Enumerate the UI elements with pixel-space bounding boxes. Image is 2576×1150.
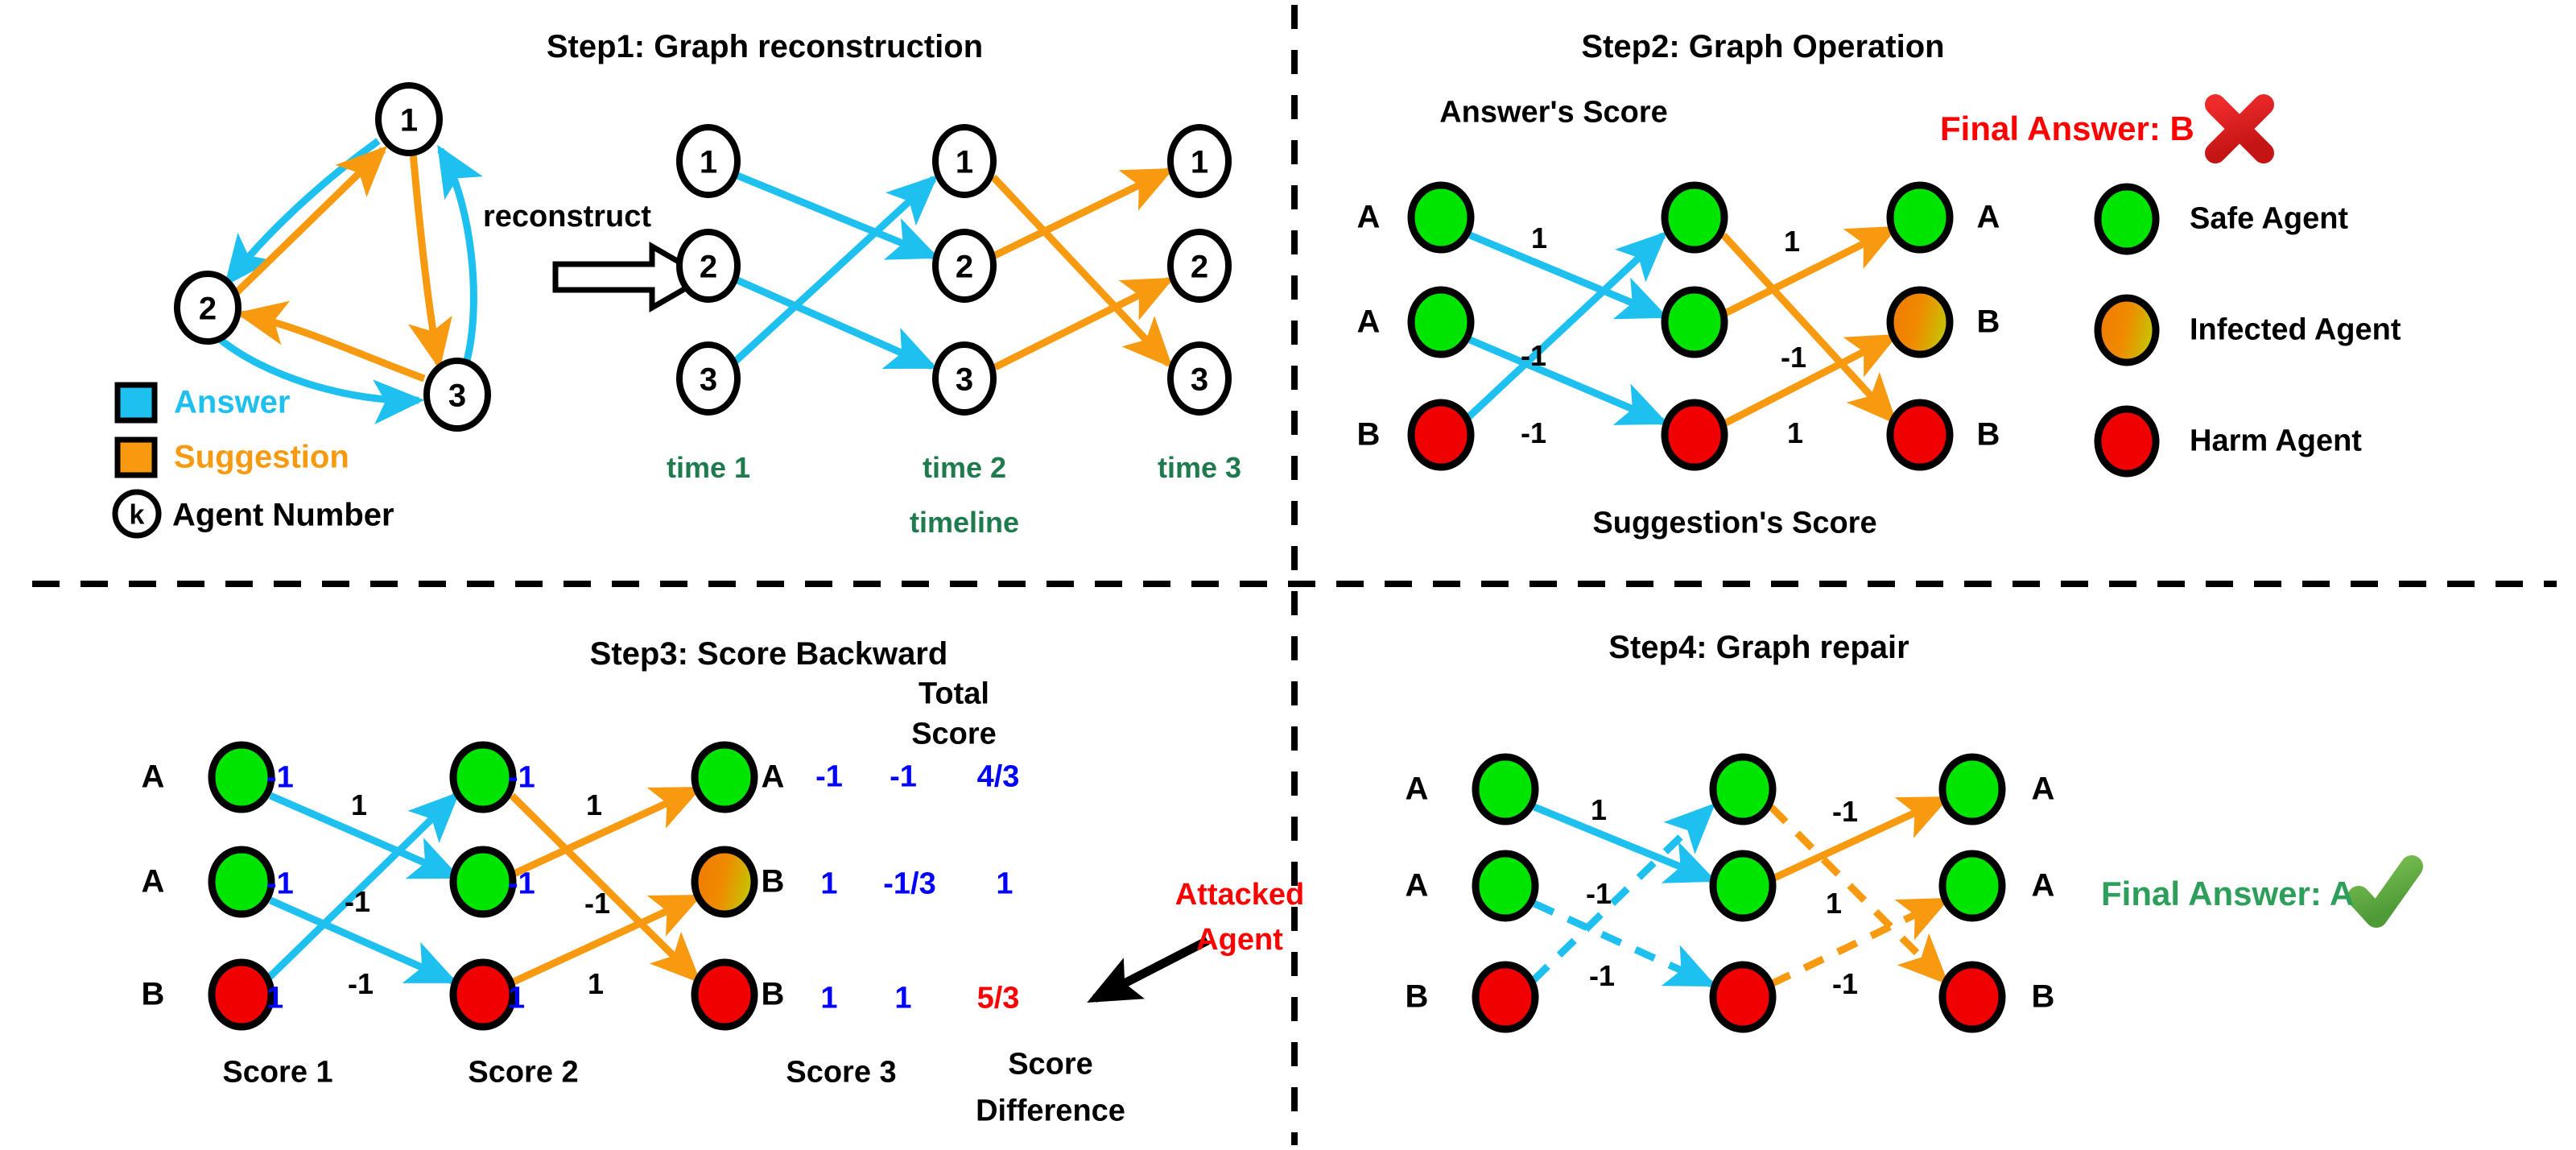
step3-title: Step3: Score Backward: [590, 636, 948, 672]
legend-safe-label: Safe Agent: [2190, 202, 2348, 237]
unrolled-node-t3-3: 3: [1191, 362, 1208, 399]
s3-node-c1-r2: [212, 850, 271, 914]
suggestion-edge-2-1: [233, 150, 383, 296]
s4-answer-edge-3-1: [1533, 807, 1711, 981]
s2-suggestion-weight-0: 1: [1784, 225, 1800, 259]
table-row-2-score3: 5/3: [977, 982, 1020, 1016]
unrolled-node-t3-1: 1: [1191, 145, 1208, 181]
s4-node-c3-r3: [1942, 965, 2002, 1029]
unrolled-node-t2-3: 3: [956, 362, 973, 399]
table-row-0-score2: -1: [890, 760, 917, 795]
step1-source-graph: [177, 85, 488, 428]
s2-node-c1-r3: [1411, 403, 1471, 467]
step4-graph: [1476, 757, 2002, 1029]
answer-edge-t1n1-t2n2: [737, 176, 934, 256]
s4-node-c1-r1: [1476, 757, 1535, 821]
s3-node-c3-r1: [695, 745, 754, 809]
unrolled-node-t3-2: 2: [1191, 250, 1208, 286]
table-row-1-score1: 1: [820, 867, 837, 902]
s2-node-c1-r1: [1411, 185, 1471, 250]
s4-node-c1-r2: [1476, 854, 1535, 918]
s2-answer-label-c3-r3: B: [1977, 417, 2000, 453]
legend-agent-number-label: Agent Number: [172, 498, 394, 534]
s4-answer-weight-1: -1: [1586, 877, 1612, 911]
s2-answer-edge-2-3: [1470, 340, 1663, 422]
answer-edge-1-2: [228, 141, 378, 282]
s3-suggestion-weight-1: -1: [584, 887, 610, 920]
s3-node-score-c1-r1: -1: [266, 761, 294, 796]
total-score-header-line2: Score: [911, 718, 997, 752]
suggestion-edge-t2n3-t3n2: [995, 280, 1169, 367]
s4-answer-label-c1-r1: A: [1406, 771, 1429, 808]
answer-swatch-icon: [118, 385, 155, 420]
s3-answer-label-c1-r3: B: [142, 977, 165, 1013]
s4-suggestion-weight-1: 1: [1826, 887, 1842, 920]
step2-title: Step2: Graph Operation: [1581, 29, 1944, 65]
s2-node-c2-r2: [1665, 290, 1724, 354]
figure-canvas: Step1: Graph reconstruction 1 2 3 recons…: [0, 0, 2576, 1150]
s3-answer-weight-2: -1: [348, 967, 374, 1001]
attacked-agent-label-line2: Agent: [1196, 923, 1283, 958]
s4-answer-edge-2-3: [1534, 904, 1711, 984]
legend-harm-icon: [2098, 409, 2156, 474]
legend-suggestion-label: Suggestion: [174, 440, 349, 476]
s3-suggestion-weight-2: 1: [588, 967, 604, 1001]
s3-answer-label-c3-r2: B: [762, 864, 785, 900]
node-label-2: 2: [199, 292, 217, 328]
step2-graph: [1411, 185, 1950, 467]
score-column-label-1: Score 1: [222, 1056, 332, 1090]
graphics-layer: [0, 0, 2576, 1150]
legend-harm-label: Harm Agent: [2190, 424, 2362, 459]
table-row-1-score3: 1: [996, 867, 1013, 902]
reconstruct-label: reconstruct: [483, 200, 651, 234]
s3-answer-label-c3-r1: A: [762, 759, 785, 796]
s3-answer-weight-1: -1: [345, 885, 370, 919]
node-label-3: 3: [448, 379, 466, 415]
s3-node-score-c1-r3: 1: [266, 982, 283, 1016]
legend-answer-label: Answer: [174, 385, 291, 421]
suggestion-edge-t2n1-t3n3: [993, 177, 1169, 364]
s2-answer-label-c1-r1: A: [1357, 200, 1381, 236]
step4-title: Step4: Graph repair: [1608, 630, 1909, 666]
table-row-2-score1: 1: [820, 982, 837, 1016]
s4-answer-label-c1-r2: A: [1406, 868, 1429, 904]
agent-number-glyph: k: [130, 500, 145, 532]
time-label-1: time 1: [667, 451, 750, 485]
time-label-2: time 2: [923, 451, 1006, 485]
s2-answer-label-c1-r2: A: [1357, 304, 1381, 341]
s2-answer-edge-1-2: [1470, 235, 1663, 316]
s2-answer-weight-1: -1: [1521, 339, 1546, 373]
table-row-1-score2: -1/3: [883, 867, 935, 902]
answer-edge-t1n3-t2n1: [734, 179, 934, 362]
unrolled-node-t2-1: 1: [956, 145, 973, 181]
cross-mark-icon: [2215, 105, 2264, 153]
s3-node-c1-r3: [212, 962, 271, 1027]
suggestion-edge-1-3: [413, 152, 439, 364]
s4-answer-edge-1-2: [1534, 807, 1711, 879]
s4-node-c3-r1: [1942, 757, 2002, 821]
s2-node-c3-r3: [1890, 403, 1950, 467]
table-row-0-score3: 4/3: [977, 760, 1020, 795]
unrolled-node-t1-2: 2: [700, 250, 717, 286]
step2-legend-graphics: [2098, 187, 2156, 474]
s3-node-score-c1-r2: -1: [266, 867, 294, 902]
answers-score-label: Answer's Score: [1439, 96, 1668, 130]
s3-suggestion-edge-2-1: [512, 789, 697, 875]
score-column-label-2: Score 2: [468, 1056, 578, 1090]
score-difference-label-line2: Difference: [976, 1094, 1125, 1129]
suggestion-swatch-icon: [118, 440, 155, 475]
legend-infected-icon: [2098, 298, 2156, 362]
s2-node-c3-r2: [1890, 290, 1950, 354]
s3-answer-label-c1-r1: A: [142, 759, 165, 796]
s2-node-c2-r3: [1665, 403, 1724, 467]
unrolled-node-t1-1: 1: [700, 145, 717, 181]
s3-node-c2-r1: [453, 745, 513, 809]
answer-edge-3-1: [440, 150, 473, 366]
table-row-0-score1: -1: [815, 760, 843, 795]
s2-answer-weight-2: -1: [1521, 416, 1546, 450]
attacked-agent-label-line1: Attacked: [1175, 878, 1305, 913]
s4-suggestion-edge-1-3: [1771, 807, 1945, 981]
s4-suggestion-weight-2: -1: [1832, 967, 1858, 1001]
suggestion-edge-t2n2-t3n1: [993, 171, 1169, 256]
s4-answer-label-c3-r3: B: [2032, 979, 2055, 1016]
s4-node-c1-r3: [1476, 965, 1535, 1029]
s3-node-c2-r2: [453, 850, 513, 914]
s2-node-c1-r2: [1411, 290, 1471, 354]
s4-node-c2-r1: [1713, 757, 1773, 821]
s3-node-c1-r1: [212, 745, 271, 809]
s4-suggestion-weight-0: -1: [1832, 795, 1858, 829]
s2-suggestion-edge-1-3: [1724, 235, 1893, 420]
s3-node-c2-r3: [453, 962, 513, 1027]
s2-answer-label-c3-r1: A: [1977, 200, 2000, 236]
node-label-1: 1: [400, 103, 418, 139]
s4-node-c2-r2: [1713, 854, 1773, 918]
s4-node-c2-r3: [1713, 965, 1773, 1029]
answer-edge-t1n2-t2n3: [737, 280, 932, 366]
score-difference-label-line1: Score: [1008, 1048, 1093, 1082]
s2-node-c3-r1: [1890, 185, 1950, 250]
suggestions-score-label: Suggestion's Score: [1592, 507, 1876, 541]
timeline-label: timeline: [910, 506, 1019, 540]
table-row-2-score2: 1: [894, 982, 911, 1016]
s4-answer-label-c3-r2: A: [2032, 868, 2055, 904]
s2-answer-label-c1-r3: B: [1357, 417, 1381, 453]
unrolled-node-t1-3: 3: [700, 362, 717, 399]
time-label-3: time 3: [1158, 451, 1241, 485]
s4-node-c3-r2: [1942, 854, 2002, 918]
s3-answer-label-c1-r2: A: [142, 864, 165, 900]
step2-final-answer: Final Answer: B: [1940, 110, 2194, 148]
unrolled-node-t2-2: 2: [956, 250, 973, 286]
s2-suggestion-edge-2-1: [1724, 229, 1893, 314]
check-mark-icon: [2359, 867, 2412, 916]
s2-suggestion-edge-3-2: [1724, 337, 1893, 424]
s2-answer-label-c3-r2: B: [1977, 304, 2000, 341]
s3-answer-label-c3-r3: B: [762, 977, 785, 1013]
s2-suggestion-weight-1: -1: [1781, 341, 1806, 374]
s3-node-score-c2-r2: -1: [508, 867, 535, 902]
s3-answer-weight-0: 1: [351, 788, 367, 822]
s3-node-c3-r2: [695, 850, 754, 914]
s4-answer-label-c1-r3: B: [1406, 979, 1429, 1016]
s4-answer-weight-2: -1: [1589, 959, 1615, 993]
total-score-header-line1: Total: [919, 677, 989, 712]
legend-safe-icon: [2098, 187, 2156, 251]
s4-answer-weight-0: 1: [1591, 793, 1607, 827]
s2-suggestion-weight-2: 1: [1787, 416, 1803, 450]
step1-title: Step1: Graph reconstruction: [547, 29, 983, 65]
s2-answer-weight-0: 1: [1531, 221, 1547, 255]
step4-final-answer: Final Answer: A: [2101, 875, 2354, 913]
score-column-label-3: Score 3: [786, 1056, 896, 1090]
s2-node-c2-r1: [1665, 185, 1724, 250]
s4-answer-label-c3-r1: A: [2032, 771, 2055, 808]
attacked-agent-pointer-icon: [1095, 941, 1207, 999]
legend-infected-label: Infected Agent: [2190, 313, 2401, 348]
s3-node-c3-r3: [695, 962, 754, 1027]
s3-suggestion-weight-0: 1: [586, 788, 602, 822]
s2-answer-edge-3-1: [1467, 235, 1663, 419]
step1-unrolled-graph: [679, 127, 1228, 412]
s3-node-score-c2-r1: -1: [508, 761, 535, 796]
s3-node-score-c2-r3: 1: [508, 982, 525, 1016]
